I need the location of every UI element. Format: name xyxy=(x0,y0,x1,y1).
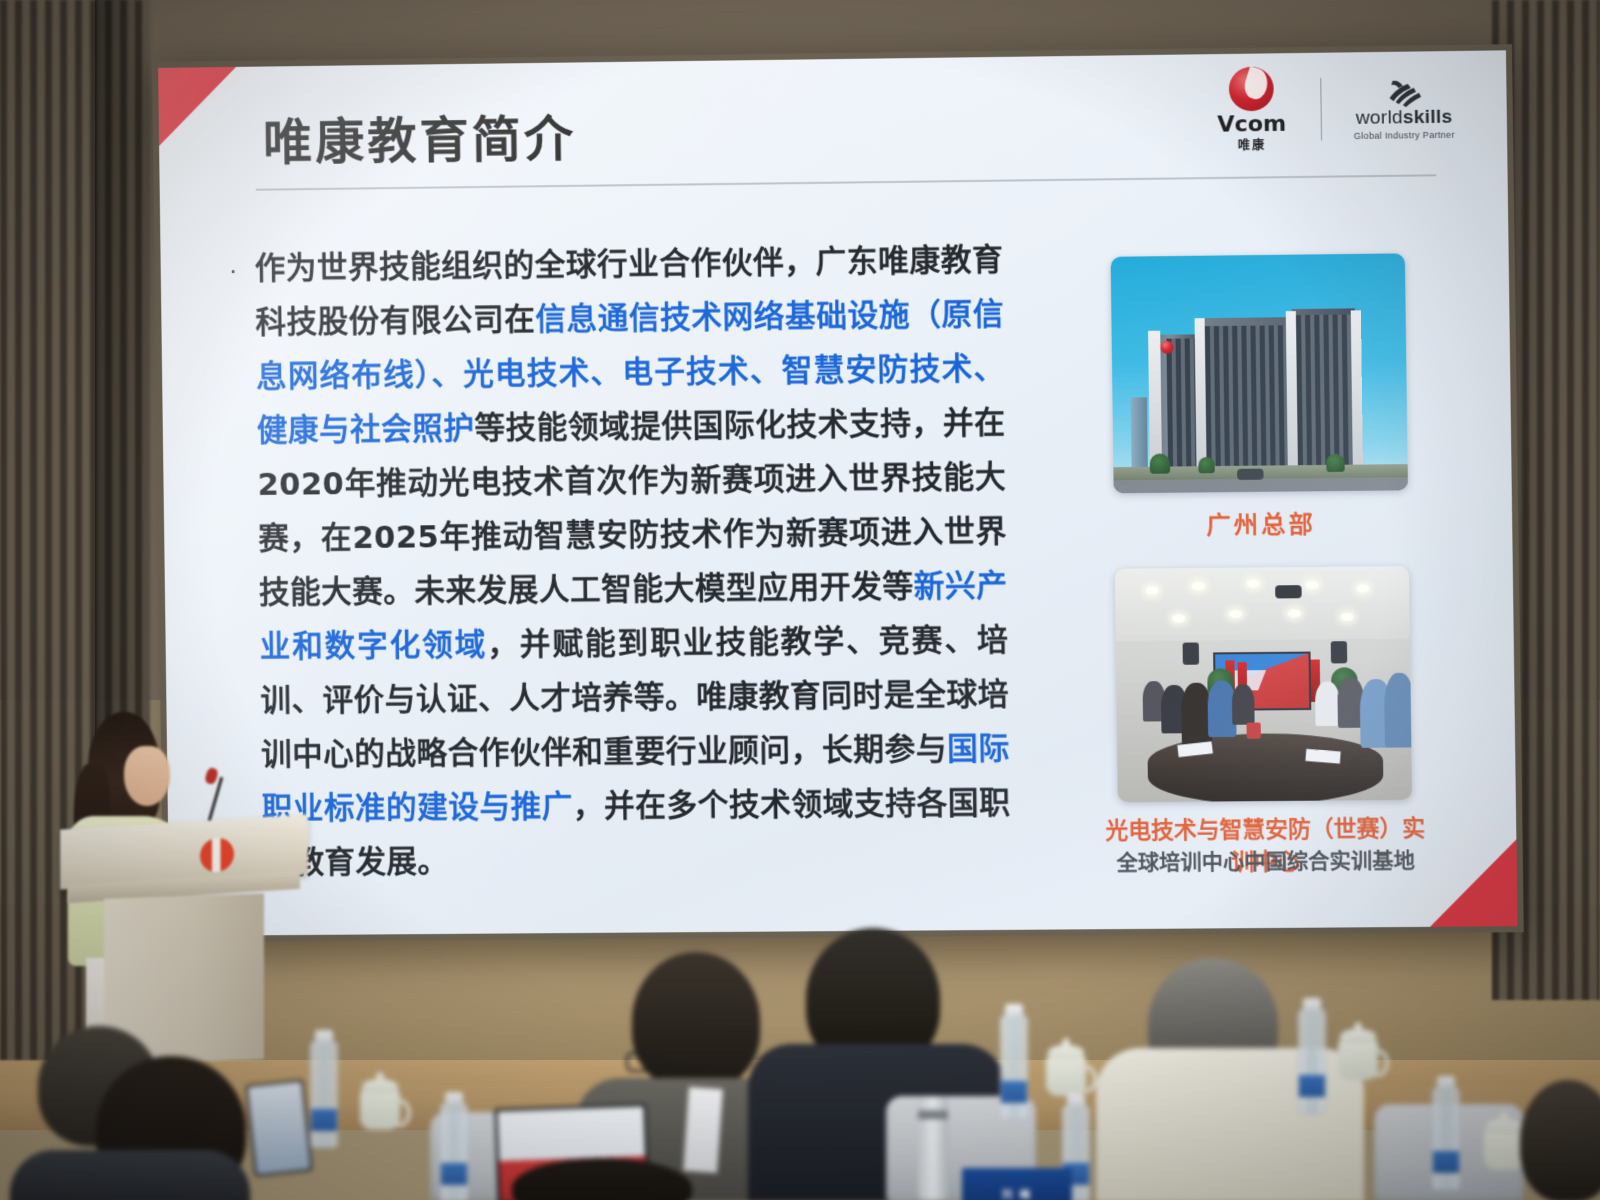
ceiling-light-4 xyxy=(1306,581,1319,589)
worldskills-wordmark: worldskills xyxy=(1356,107,1453,129)
presenter-face xyxy=(124,746,170,806)
room-person-9 xyxy=(1384,673,1412,748)
tea-cup-2[interactable] xyxy=(1046,1056,1086,1096)
bottle-cap-2 xyxy=(445,1092,463,1104)
tea-cup-knob-2 xyxy=(1062,1038,1070,1048)
tea-cup-knob-3 xyxy=(1354,1022,1362,1032)
audience-phone[interactable] xyxy=(245,1079,312,1177)
worldskills-hand-icon xyxy=(1383,75,1424,108)
tea-cup-1[interactable] xyxy=(360,1090,400,1130)
slide-corner-accent-top-left xyxy=(158,67,237,146)
worldskills-logo: worldskills Global Industry Partner xyxy=(1337,75,1470,142)
title-underline-rule xyxy=(256,174,1437,190)
vcom-logo: Vcom 唯康 xyxy=(1198,66,1305,154)
red-box-item xyxy=(1246,723,1260,739)
ceiling-light-2 xyxy=(1192,582,1205,590)
water-bottle-6[interactable] xyxy=(1432,1086,1460,1190)
vcom-flame-icon xyxy=(1229,66,1274,111)
tea-cup-handle-2 xyxy=(1075,1065,1097,1093)
wall-speaker-right xyxy=(1331,641,1348,663)
bottle-cap-1 xyxy=(315,1030,333,1042)
eyeglasses-icon xyxy=(626,1052,664,1072)
document-b xyxy=(1305,749,1340,764)
water-bottle-1[interactable] xyxy=(310,1040,338,1148)
ws-word-light: world xyxy=(1356,107,1403,129)
slide-logo-bar: Vcom 唯康 xyxy=(1198,61,1470,157)
building-center-glass xyxy=(1205,325,1294,479)
car-a xyxy=(1237,469,1264,480)
wall-speaker-left xyxy=(1183,642,1200,664)
tree-a xyxy=(1150,453,1171,473)
ceiling-light-7 xyxy=(1229,610,1242,618)
ceiling-light-5 xyxy=(1356,584,1369,592)
thermos-band xyxy=(918,1110,948,1119)
tree-c xyxy=(1326,454,1345,472)
bottle-label-5 xyxy=(1299,1075,1325,1097)
training-center-caption-secondary: 全球培训中心中国综合实训基地 xyxy=(1098,844,1433,877)
worldskills-tagline: Global Industry Partner xyxy=(1354,130,1455,141)
ws-word-bold: skills xyxy=(1403,106,1453,128)
building-right-glass xyxy=(1296,314,1353,482)
tea-cup-handle-1 xyxy=(389,1099,411,1127)
projection-screen: 唯康教育简介 Vcom 唯康 xyxy=(152,44,1524,942)
dress-shirt-collar xyxy=(683,1087,723,1173)
building-roof-logo xyxy=(1160,341,1173,354)
water-bottle-2[interactable] xyxy=(440,1102,468,1200)
water-bottle-3[interactable] xyxy=(1000,1014,1028,1120)
roadway xyxy=(1114,477,1408,493)
audience-shoulders-2 xyxy=(10,1150,250,1200)
water-bottle-5[interactable] xyxy=(1298,1008,1326,1114)
bottle-cap-5 xyxy=(1303,998,1321,1010)
ceiling-projector xyxy=(1275,585,1302,598)
tea-cup-handle-3 xyxy=(1367,1049,1389,1077)
slide-body-text: 作为世界技能组织的全球行业合作伙伴，广东唯康教育科技股份有限公司在信息通信技术网… xyxy=(254,234,1011,891)
tea-cup-knob-4 xyxy=(1500,1112,1508,1122)
presentation-slide: 唯康教育简介 Vcom 唯康 xyxy=(158,50,1517,936)
headquarters-photo xyxy=(1111,253,1408,493)
bottle-label-6 xyxy=(1433,1151,1459,1173)
tea-cup-3[interactable] xyxy=(1338,1040,1378,1080)
slide-corner-accent-bottom-right xyxy=(1429,839,1518,926)
bottle-label-2 xyxy=(441,1163,467,1185)
bottle-cap-4 xyxy=(1067,1094,1085,1106)
training-center-photo xyxy=(1115,566,1412,802)
bottle-cap-3 xyxy=(1005,1004,1023,1016)
slide-title: 唯康教育简介 xyxy=(263,115,577,168)
conference-photo-scene: 唯康教育简介 Vcom 唯康 xyxy=(0,0,1600,1200)
bottle-cap-6 xyxy=(1437,1076,1455,1088)
meeting-room-ceiling xyxy=(1115,566,1410,641)
ceiling-light-8 xyxy=(1288,609,1301,617)
ceiling-light-1 xyxy=(1145,586,1158,594)
vcom-wordmark: Vcom xyxy=(1217,113,1286,137)
tea-cup-4[interactable] xyxy=(1484,1130,1524,1170)
thermos-flask[interactable] xyxy=(918,1096,948,1200)
logo-divider xyxy=(1320,78,1322,140)
phone-screen xyxy=(248,1081,311,1174)
ceiling-light-9 xyxy=(1340,613,1353,621)
room-person-6 xyxy=(1315,682,1340,727)
name-placard: 刘 峰 xyxy=(962,1168,1072,1200)
bottle-label-1 xyxy=(311,1109,337,1131)
headquarters-caption: 广州总部 xyxy=(1094,503,1429,542)
ceiling-light-6 xyxy=(1172,614,1185,622)
tree-b xyxy=(1198,457,1214,473)
bottle-label-3 xyxy=(1001,1081,1027,1103)
room-person-5 xyxy=(1232,684,1255,724)
slide-body: · 作为世界技能组织的全球行业合作伙伴，广东唯康教育科技股份有限公司在信息通信技… xyxy=(228,234,1011,892)
placard-text: 刘 峰 xyxy=(1001,1186,1032,1200)
vcom-chinese-name: 唯康 xyxy=(1238,136,1267,153)
tea-cup-knob-1 xyxy=(376,1072,384,1082)
